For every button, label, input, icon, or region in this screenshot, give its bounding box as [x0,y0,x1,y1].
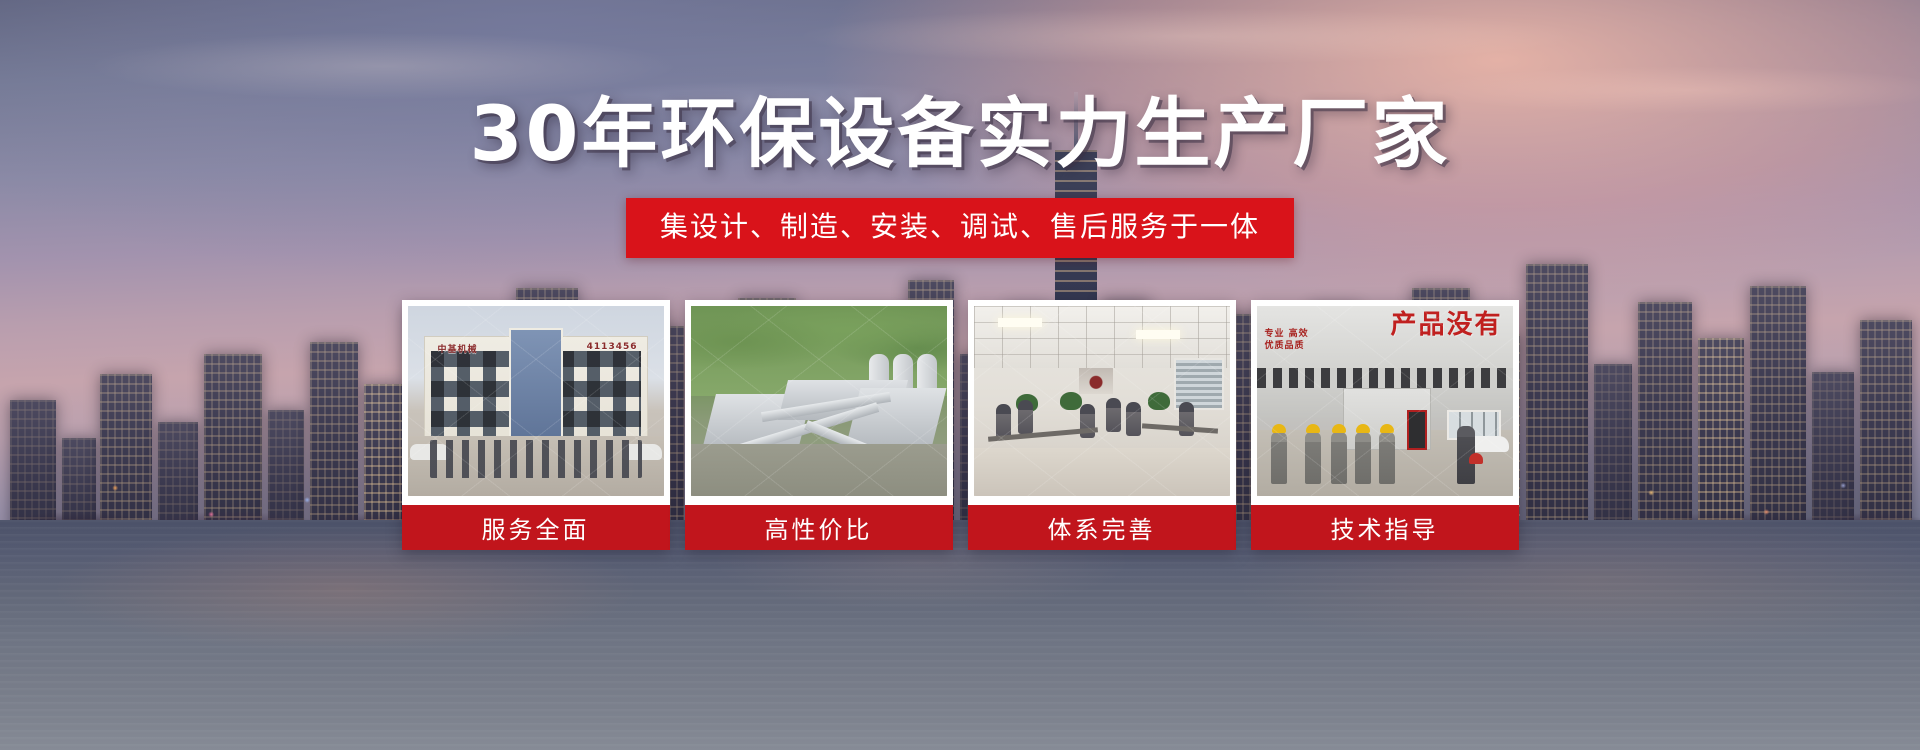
feature-card-list: 中基机械 4113456 服务全面 [402,300,1519,550]
red-helmet-icon [1469,453,1483,464]
wall-logo-icon [1079,368,1113,394]
feature-card[interactable]: 中基机械 4113456 服务全面 [402,300,670,550]
feature-card[interactable]: 产品没有 专业 高效优质品质 技术指导 [1251,300,1519,550]
banner-subtitle-bar: 集设计、制造、安装、调试、售后服务于一体 [626,198,1294,258]
feature-card-caption: 技术指导 [1251,502,1519,550]
feature-card[interactable]: 体系完善 [968,300,1236,550]
feature-card-caption: 服务全面 [402,502,670,550]
hero-banner: 30年环保设备实力生产厂家 集设计、制造、安装、调试、售后服务于一体 中基机械 … [0,0,1920,750]
office-interior-staff-photo [974,306,1230,496]
staff-row [430,440,642,478]
building-sign-text: 中基机械 [438,342,478,355]
factory-wall-slogan: 产品没有 [1390,312,1502,338]
aerial-production-plant-photo [691,306,947,496]
feature-card-caption: 体系完善 [968,502,1236,550]
banner-content: 30年环保设备实力生产厂家 集设计、制造、安装、调试、售后服务于一体 中基机械 … [0,0,1920,750]
building-phone-text: 4113456 [587,342,638,352]
banner-headline: 30年环保设备实力生产厂家 [470,96,1451,172]
company-office-building-photo: 中基机械 4113456 [408,306,664,496]
feature-card-caption: 高性价比 [685,502,953,550]
factory-workers-briefing-photo: 产品没有 专业 高效优质品质 [1257,306,1513,496]
factory-wall-subslogan: 专业 高效优质品质 [1265,328,1309,352]
feature-card[interactable]: 高性价比 [685,300,953,550]
